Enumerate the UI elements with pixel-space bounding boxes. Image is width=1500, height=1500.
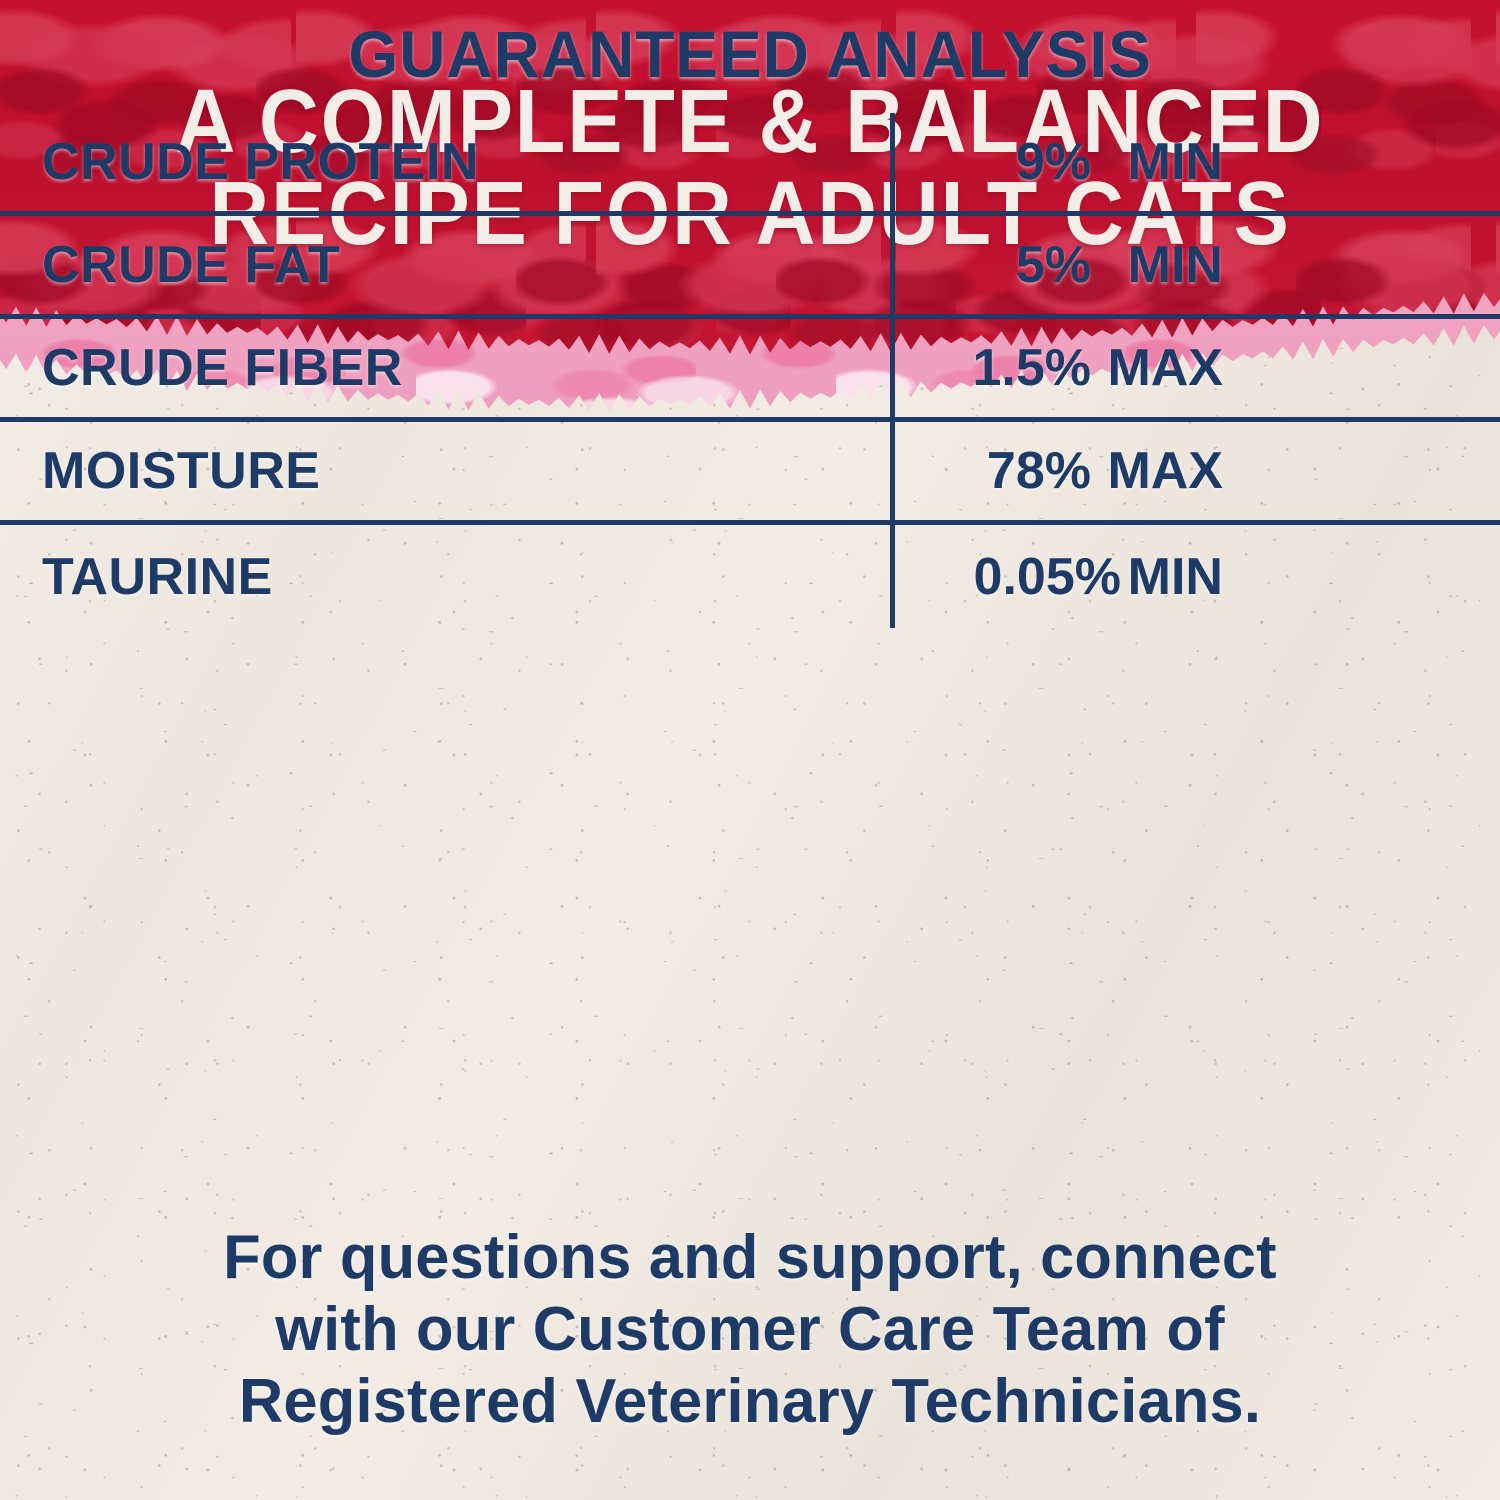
table-row: CRUDE PROTEIN9%MIN xyxy=(0,113,1500,216)
nutrient-limit-label: MIN xyxy=(1095,239,1245,291)
nutrient-amount-value: 1.5% xyxy=(895,342,1095,394)
nutrient-amount-cell: 5%MIN xyxy=(895,216,1500,314)
table-row: TAURINE0.05%MIN xyxy=(0,525,1500,628)
nutrient-name-cell: CRUDE FAT xyxy=(0,216,895,314)
customer-care-note: For questions and support, connect with … xyxy=(116,1222,1383,1438)
nutrient-amount-value: 0.05% xyxy=(895,551,1121,603)
product-label-panel: A COMPLETE & BALANCED RECIPE FOR ADULT C… xyxy=(0,0,1500,1500)
table-row: CRUDE FAT5%MIN xyxy=(0,216,1500,319)
nutrient-amount-cell: 9%MIN xyxy=(895,113,1500,211)
guaranteed-analysis-rows: CRUDE PROTEIN9%MINCRUDE FAT5%MINCRUDE FI… xyxy=(0,113,1500,628)
nutrient-limit-label: MIN xyxy=(1121,551,1245,603)
nutrient-name-cell: MOISTURE xyxy=(0,422,895,520)
nutrient-limit-label: MAX xyxy=(1095,445,1245,497)
nutrient-amount-cell: 0.05%MIN xyxy=(895,525,1500,628)
nutrient-amount-cell: 1.5%MAX xyxy=(895,319,1500,417)
nutrient-name-cell: TAURINE xyxy=(0,525,895,628)
table-row: CRUDE FIBER1.5%MAX xyxy=(0,319,1500,422)
nutrient-amount-cell: 78%MAX xyxy=(895,422,1500,520)
table-row: MOISTURE78%MAX xyxy=(0,422,1500,525)
nutrient-amount-value: 78% xyxy=(895,445,1095,497)
nutrient-amount-value: 9% xyxy=(895,136,1095,188)
nutrient-limit-label: MIN xyxy=(1095,136,1245,188)
nutrient-amount-value: 5% xyxy=(895,239,1095,291)
nutrient-limit-label: MAX xyxy=(1095,342,1245,394)
guaranteed-analysis-title: GUARANTEED ANALYSIS xyxy=(348,21,1151,87)
nutrient-name-cell: CRUDE PROTEIN xyxy=(0,113,895,211)
nutrient-name-cell: CRUDE FIBER xyxy=(0,319,895,417)
